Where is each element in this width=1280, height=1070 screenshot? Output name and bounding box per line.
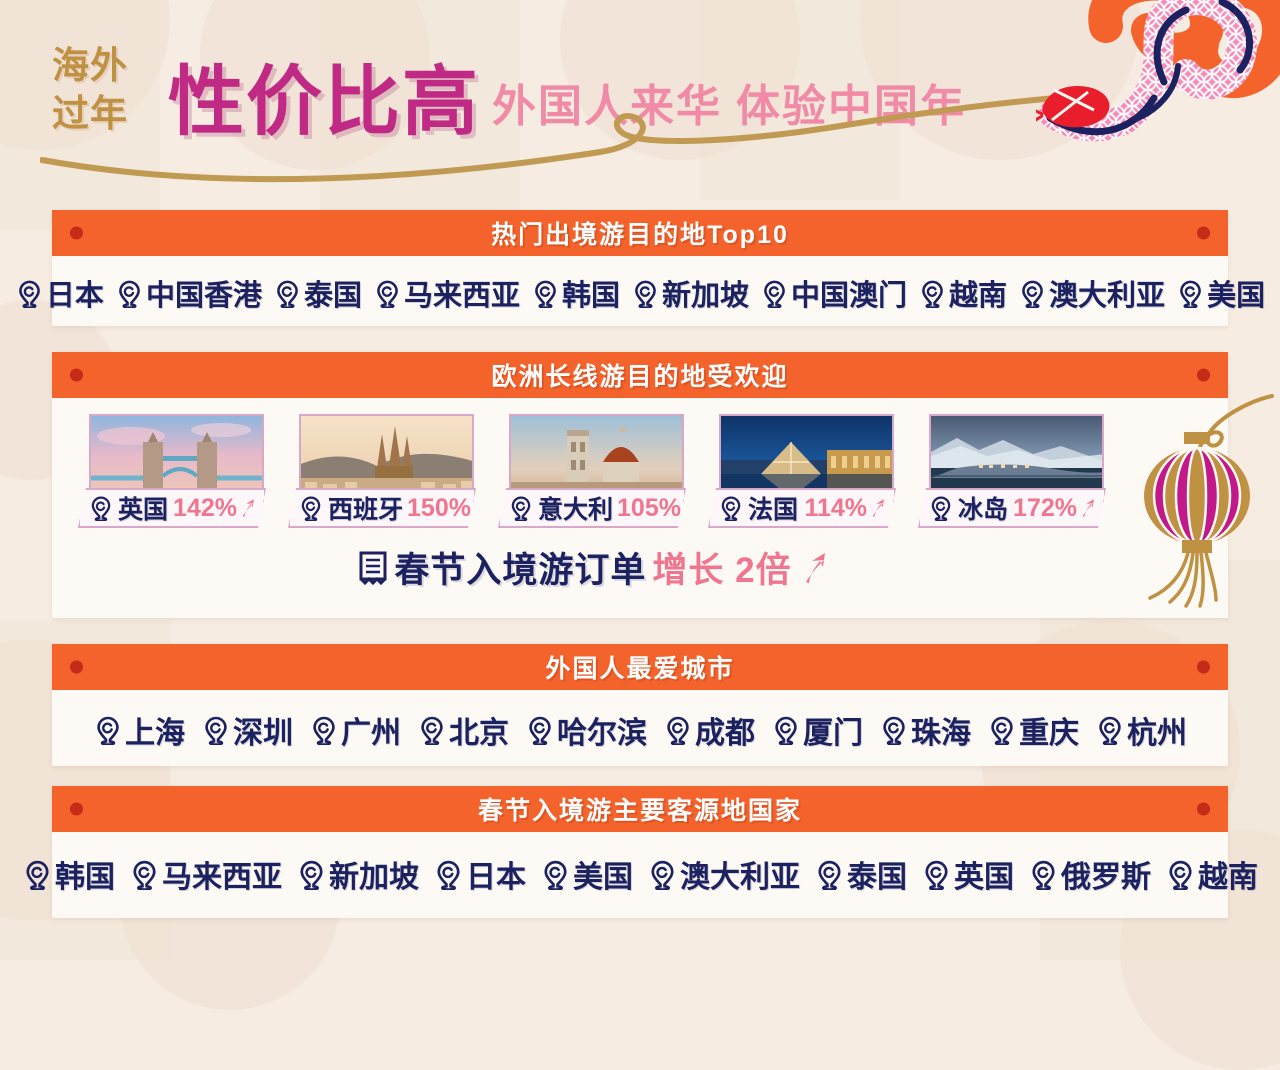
location-pin-icon <box>433 859 464 890</box>
destination-card-label: 意大利105% <box>498 488 686 528</box>
growth-text-highlight: 增长 2倍 <box>652 542 791 593</box>
destination-name: 冰岛 <box>958 490 1008 526</box>
list-item-label: 马来西亚 <box>162 852 282 896</box>
location-pin-icon <box>540 859 571 890</box>
snake-icon <box>1036 0 1280 186</box>
location-pin-icon <box>760 279 789 308</box>
growth-percent: 142% <box>173 494 258 523</box>
location-pin-icon <box>115 279 144 308</box>
location-pin-icon <box>129 859 160 890</box>
section-title: 春节入境游主要客源地国家 <box>478 791 802 827</box>
list-item[interactable]: 日本 <box>15 272 104 314</box>
bar-dot-right-icon <box>1197 369 1210 382</box>
list-item[interactable]: 广州 <box>309 708 401 752</box>
growth-percent: 172% <box>1013 494 1098 523</box>
location-pin-icon <box>296 859 327 890</box>
destination-card-list: 英国142% 西班牙150% <box>52 398 1228 528</box>
destination-card[interactable]: 冰岛172% <box>918 414 1106 528</box>
list-item-label: 上海 <box>125 708 185 752</box>
up-arrow-icon <box>682 496 702 520</box>
destination-list: 日本中国香港泰国马来西亚韩国新加坡中国澳门越南澳大利亚美国 <box>52 256 1228 328</box>
up-arrow-icon <box>238 496 258 520</box>
list-item[interactable]: 中国香港 <box>115 272 262 314</box>
list-item-label: 珠海 <box>911 708 971 752</box>
list-item-label: 越南 <box>949 272 1007 314</box>
list-item-label: 泰国 <box>304 272 362 314</box>
bar-dot-right-icon <box>1197 803 1210 816</box>
list-item-label: 新加坡 <box>662 272 749 314</box>
bar-dot-left-icon <box>70 227 83 240</box>
section-header-bar: 欧洲长线游目的地受欢迎 <box>52 352 1228 398</box>
location-pin-icon <box>918 279 947 308</box>
section-title: 外国人最爱城市 <box>545 649 734 685</box>
list-item[interactable]: 厦门 <box>771 708 863 752</box>
list-item-label: 北京 <box>449 708 509 752</box>
location-pin-icon <box>1095 715 1125 745</box>
location-pin-icon <box>921 859 952 890</box>
list-item[interactable]: 上海 <box>93 708 185 752</box>
destination-name: 意大利 <box>538 490 613 526</box>
section-header-bar: 外国人最爱城市 <box>52 644 1228 690</box>
list-item-label: 中国澳门 <box>791 272 907 314</box>
growth-percent-value: 105% <box>617 494 681 523</box>
bar-dot-right-icon <box>1197 661 1210 674</box>
growth-percent-value: 114% <box>804 494 867 523</box>
location-pin-icon <box>88 495 114 521</box>
location-pin-icon <box>298 495 324 521</box>
list-item[interactable]: 马来西亚 <box>373 272 520 314</box>
list-item-label: 马来西亚 <box>404 272 520 314</box>
list-item-label: 美国 <box>1207 272 1265 314</box>
up-arrow-icon <box>472 496 492 520</box>
growth-percent: 105% <box>617 494 702 523</box>
list-item-label: 越南 <box>1198 852 1258 896</box>
page-subtitle: 外国人来华体验中国年 <box>492 70 966 134</box>
location-pin-icon <box>928 495 954 521</box>
list-item[interactable]: 新加坡 <box>296 852 419 896</box>
list-item-label: 韩国 <box>55 852 115 896</box>
list-item-label: 澳大利亚 <box>1049 272 1165 314</box>
destination-name: 西班牙 <box>328 490 403 526</box>
header-kicker: 海外 过年 <box>52 42 162 138</box>
list-item-label: 成都 <box>695 708 755 752</box>
up-arrow-icon <box>1078 496 1098 520</box>
section-title: 欧洲长线游目的地受欢迎 <box>491 357 788 393</box>
section-outbound-top10: 热门出境游目的地Top10 日本中国香港泰国马来西亚韩国新加坡中国澳门越南澳大利… <box>52 210 1228 326</box>
list-item[interactable]: 泰国 <box>273 272 362 314</box>
list-item[interactable]: 泰国 <box>814 852 907 896</box>
section-favorite-cities: 外国人最爱城市 上海深圳广州北京哈尔滨成都厦门珠海重庆杭州 <box>52 644 1228 766</box>
growth-percent-value: 150% <box>407 494 471 523</box>
growth-text-primary: 春节入境游订单 <box>394 542 646 593</box>
location-pin-icon <box>814 859 845 890</box>
growth-callout: 春节入境游订单 增长 2倍 <box>52 542 1228 593</box>
location-pin-icon <box>647 859 678 890</box>
list-item[interactable]: 韩国 <box>531 272 620 314</box>
list-item-label: 日本 <box>46 272 104 314</box>
page-title: 性价比高 <box>168 40 480 150</box>
destination-card[interactable]: 法国114% <box>708 414 896 528</box>
list-item[interactable]: 深圳 <box>201 708 293 752</box>
list-item[interactable]: 美国 <box>1176 272 1265 314</box>
location-pin-icon <box>201 715 231 745</box>
location-pin-icon <box>1176 279 1205 308</box>
bar-dot-left-icon <box>70 661 83 674</box>
list-item[interactable]: 日本 <box>433 852 526 896</box>
list-item[interactable]: 美国 <box>540 852 633 896</box>
location-pin-icon <box>525 715 555 745</box>
location-pin-icon <box>1165 859 1196 890</box>
receipt-icon <box>358 551 388 585</box>
list-item-label: 俄罗斯 <box>1061 852 1151 896</box>
city-list: 上海深圳广州北京哈尔滨成都厦门珠海重庆杭州 <box>52 690 1228 766</box>
list-item-label: 深圳 <box>233 708 293 752</box>
location-pin-icon <box>531 279 560 308</box>
bar-dot-right-icon <box>1197 227 1210 240</box>
destination-card-label: 冰岛172% <box>918 488 1106 528</box>
list-item-label: 英国 <box>954 852 1014 896</box>
growth-percent: 114% <box>804 494 888 523</box>
country-list: 韩国马来西亚新加坡日本美国澳大利亚泰国英国俄罗斯越南 <box>52 832 1228 910</box>
location-pin-icon <box>508 495 534 521</box>
list-item[interactable]: 越南 <box>1165 852 1258 896</box>
section-europe-long-haul: 欧洲长线游目的地受欢迎 英国142% <box>52 352 1228 618</box>
header: 海外 过年 性价比高 外国人来华体验中国年 <box>0 0 1280 200</box>
section-header-bar: 热门出境游目的地Top10 <box>52 210 1228 256</box>
location-pin-icon <box>15 279 44 308</box>
destination-card[interactable]: 西班牙150% <box>288 414 476 528</box>
bar-dot-left-icon <box>70 803 83 816</box>
section-inbound-source-countries: 春节入境游主要客源地国家 韩国马来西亚新加坡日本美国澳大利亚泰国英国俄罗斯越南 <box>52 786 1228 918</box>
destination-card[interactable]: 英国142% <box>78 414 266 528</box>
growth-percent: 150% <box>407 494 492 523</box>
location-pin-icon <box>1018 279 1047 308</box>
bar-dot-left-icon <box>70 369 83 382</box>
location-pin-icon <box>1028 859 1059 890</box>
list-item[interactable]: 英国 <box>921 852 1014 896</box>
list-item[interactable]: 越南 <box>918 272 1007 314</box>
up-arrow-icon <box>798 550 832 586</box>
location-pin-icon <box>771 715 801 745</box>
section-title: 热门出境游目的地Top10 <box>491 215 789 251</box>
location-pin-icon <box>22 859 53 890</box>
kicker-line-1: 海外 <box>52 42 162 90</box>
list-item-label: 澳大利亚 <box>680 852 800 896</box>
location-pin-icon <box>718 495 744 521</box>
list-item-label: 美国 <box>573 852 633 896</box>
growth-percent-value: 142% <box>173 494 237 523</box>
section-header-bar: 春节入境游主要客源地国家 <box>52 786 1228 832</box>
list-item[interactable]: 马来西亚 <box>129 852 282 896</box>
destination-card-label: 法国114% <box>708 488 896 528</box>
list-item[interactable]: 哈尔滨 <box>525 708 647 752</box>
list-item-label: 广州 <box>341 708 401 752</box>
growth-percent-value: 172% <box>1013 494 1077 523</box>
location-pin-icon <box>93 715 123 745</box>
location-pin-icon <box>663 715 693 745</box>
list-item[interactable]: 澳大利亚 <box>647 852 800 896</box>
destination-card[interactable]: 意大利105% <box>498 414 686 528</box>
destination-name: 法国 <box>748 490 798 526</box>
destination-name: 英国 <box>118 490 168 526</box>
list-item-label: 哈尔滨 <box>557 708 647 752</box>
list-item[interactable]: 珠海 <box>879 708 971 752</box>
list-item[interactable]: 成都 <box>663 708 755 752</box>
list-item-label: 厦门 <box>803 708 863 752</box>
list-item[interactable]: 杭州 <box>1095 708 1187 752</box>
location-pin-icon <box>309 715 339 745</box>
list-item[interactable]: 重庆 <box>987 708 1079 752</box>
destination-card-label: 英国142% <box>78 488 266 528</box>
destination-card-label: 西班牙150% <box>288 488 476 528</box>
location-pin-icon <box>273 279 302 308</box>
list-item[interactable]: 中国澳门 <box>760 272 907 314</box>
location-pin-icon <box>987 715 1017 745</box>
list-item-label: 韩国 <box>562 272 620 314</box>
list-item-label: 新加坡 <box>329 852 419 896</box>
list-item[interactable]: 澳大利亚 <box>1018 272 1165 314</box>
location-pin-icon <box>373 279 402 308</box>
up-arrow-icon <box>868 496 888 520</box>
location-pin-icon <box>631 279 660 308</box>
subtitle-part-1: 外国人来华 <box>492 82 722 131</box>
list-item-label: 重庆 <box>1019 708 1079 752</box>
list-item-label: 中国香港 <box>146 272 262 314</box>
list-item[interactable]: 新加坡 <box>631 272 749 314</box>
location-pin-icon <box>417 715 447 745</box>
list-item-label: 泰国 <box>847 852 907 896</box>
list-item[interactable]: 韩国 <box>22 852 115 896</box>
list-item-label: 杭州 <box>1127 708 1187 752</box>
kicker-line-2: 过年 <box>52 90 162 138</box>
location-pin-icon <box>879 715 909 745</box>
list-item[interactable]: 北京 <box>417 708 509 752</box>
list-item-label: 日本 <box>466 852 526 896</box>
list-item[interactable]: 俄罗斯 <box>1028 852 1151 896</box>
subtitle-part-2: 体验中国年 <box>736 82 966 131</box>
